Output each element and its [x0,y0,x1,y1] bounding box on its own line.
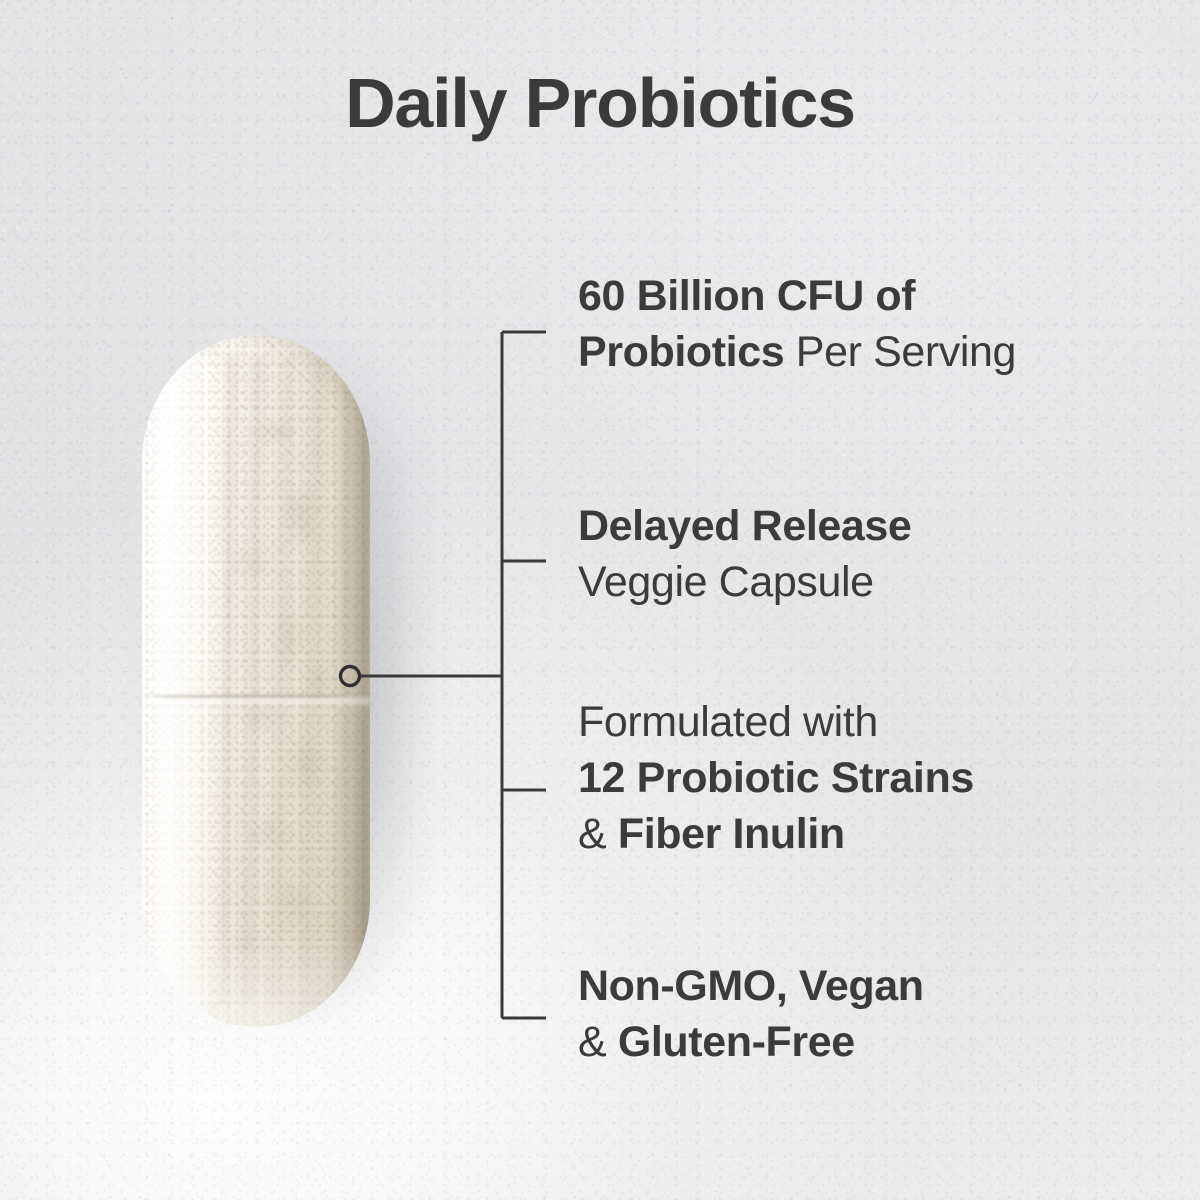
capsule-rim-shadow [334,335,370,1027]
feature-cfu-line1: 60 Billion CFU of [578,268,1016,324]
feature-item-delayed-release: Delayed Release Veggie Capsule [578,498,911,610]
product-infographic: Daily Probiotics [0,0,1200,1200]
feature-cert-line2: & Gluten-Free [578,1014,924,1070]
feature-delayed-line1: Delayed Release [578,498,911,554]
feature-cfu-line2-regular: Per Serving [784,328,1016,376]
feature-strains-ampersand: & [578,810,618,858]
capsule-seam-lip [142,698,370,708]
feature-strains-line3: & Fiber Inulin [578,806,974,862]
page-title: Daily Probiotics [0,68,1200,138]
feature-cfu-line2: Probiotics Per Serving [578,324,1016,380]
feature-item-cfu: 60 Billion CFU of Probiotics Per Serving [578,268,1016,380]
feature-strains-line1: Formulated with [578,694,974,750]
capsule-bottom-fade [142,930,370,1027]
capsule-highlight [153,345,221,1016]
feature-cert-line1: Non-GMO, Vegan [578,958,924,1014]
feature-strains-line2: 12 Probiotic Strains [578,750,974,806]
feature-cert-ampersand: & [578,1018,618,1066]
feature-delayed-line2: Veggie Capsule [578,554,911,610]
capsule-image [120,318,420,1038]
feature-item-certifications: Non-GMO, Vegan & Gluten-Free [578,958,924,1070]
feature-item-strains: Formulated with 12 Probiotic Strains & F… [578,694,974,862]
capsule-body [142,335,370,1027]
